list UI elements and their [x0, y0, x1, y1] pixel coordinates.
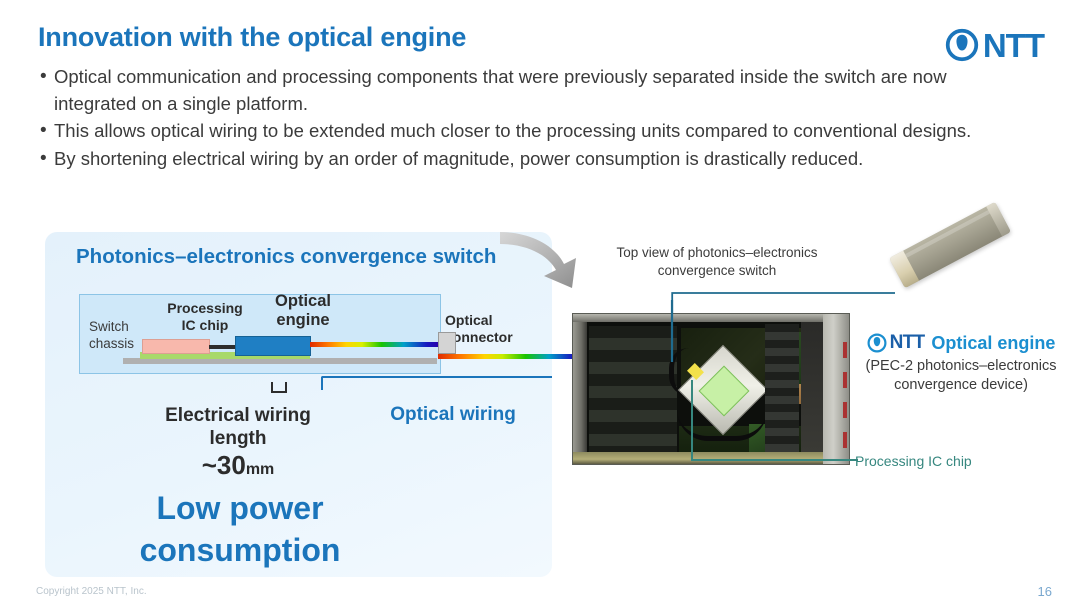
optical-connector-label-line1: Optical: [445, 312, 555, 329]
ntt-logo: NTT: [945, 28, 1044, 62]
top-view-caption: Top view of photonics–electronics conver…: [592, 244, 842, 280]
low-power-benefit-line2: consumption: [75, 529, 405, 571]
panel-heading: Photonics–electronics convergence switch: [76, 245, 496, 269]
convergence-switch-panel: Photonics–electronics convergence switch…: [45, 232, 552, 577]
optical-connector-label: Optical connector: [445, 312, 555, 346]
module-end-cap: [986, 202, 1011, 237]
optical-connector-shape: [438, 332, 456, 354]
processing-ic-chip-shape: [142, 339, 210, 354]
curved-arrow-icon: [498, 228, 594, 298]
electrical-wiring-label-line1: Electrical wiring: [143, 404, 333, 427]
optical-engine-subtitle: (PEC-2 photonics–electronics convergence…: [845, 357, 1077, 395]
optical-engine-caption-title: NTT Optical engine: [845, 332, 1077, 354]
electrical-wire-shape: [209, 345, 236, 349]
photo-line-cards: [589, 326, 677, 454]
optical-engine-label-line1: Optical: [255, 292, 351, 311]
optical-engine-title: Optical engine: [931, 333, 1055, 354]
optical-engine-subtitle-line2: convergence device): [845, 376, 1077, 395]
bullet-item: • Optical communication and processing c…: [40, 64, 1030, 117]
processing-ic-chip-leader-line: [690, 380, 860, 464]
slide-root: { "slide": { "title": "Innovation with t…: [0, 0, 1080, 608]
optical-engine-caption: NTT Optical engine (PEC-2 photonics–elec…: [845, 332, 1077, 395]
bullet-list: • Optical communication and processing c…: [40, 64, 1030, 173]
page-title: Innovation with the optical engine: [38, 22, 466, 53]
low-power-benefit-line1: Low power: [75, 487, 405, 529]
bullet-marker-icon: •: [40, 146, 54, 172]
optical-engine-shape: [235, 336, 311, 356]
electrical-wiring-label-line2: length: [143, 427, 333, 450]
bullet-text: By shortening electrical wiring by an or…: [54, 146, 1030, 173]
top-view-caption-line1: Top view of photonics–electronics: [592, 244, 842, 262]
optical-wiring-label: Optical wiring: [363, 404, 543, 426]
page-number: 16: [1038, 584, 1052, 599]
processing-ic-chip-label-line1: Processing: [157, 300, 253, 317]
bullet-marker-icon: •: [40, 118, 54, 144]
optical-connector-label-line2: connector: [445, 329, 555, 346]
processing-ic-chip-callout: Processing IC chip: [855, 453, 972, 469]
optical-engine-label: Optical engine: [255, 292, 351, 330]
photo-chassis-left-wall: [573, 314, 587, 464]
module-fiber-tip: [889, 251, 919, 289]
optical-engine-subtitle-line1: (PEC-2 photonics–electronics: [845, 357, 1077, 376]
bullet-item: • By shortening electrical wiring by an …: [40, 146, 1030, 173]
ntt-circle-icon: [945, 28, 979, 62]
ntt-circle-icon: [867, 333, 887, 353]
copyright-text: Copyright 2025 NTT, Inc.: [36, 586, 147, 597]
bullet-text: Optical communication and processing com…: [54, 64, 1030, 117]
wiring-length-unit: mm: [246, 461, 274, 478]
wiring-length-number: ~30: [202, 450, 246, 480]
optical-engine-module-photo: [889, 202, 1011, 288]
bullet-marker-icon: •: [40, 64, 54, 90]
electrical-wiring-bracket: [271, 382, 287, 393]
ntt-wordmark: NTT: [983, 29, 1044, 62]
optical-engine-label-line2: engine: [255, 311, 351, 330]
processing-ic-chip-label-line2: IC chip: [157, 317, 253, 334]
optical-engine-pointer-line: [668, 300, 676, 362]
bullet-item: • This allows optical wiring to be exten…: [40, 118, 1030, 145]
electrical-wiring-label: Electrical wiring length: [143, 404, 333, 450]
wiring-length-value: ~30mm: [143, 450, 333, 481]
bullet-text: This allows optical wiring to be extende…: [54, 118, 1030, 145]
optical-fiber-bottom-shape: [438, 354, 584, 359]
processing-ic-chip-label: Processing IC chip: [157, 300, 253, 334]
module-highlight: [905, 207, 995, 257]
optical-fiber-top-shape: [310, 342, 440, 347]
switch-chassis-label-line1: Switch: [89, 318, 159, 335]
ntt-wordmark: NTT: [890, 332, 925, 354]
photo-chassis-top-wall: [573, 314, 849, 322]
top-view-caption-line2: convergence switch: [592, 262, 842, 280]
low-power-benefit: Low power consumption: [75, 487, 405, 571]
optical-wiring-bracket: [321, 376, 552, 390]
